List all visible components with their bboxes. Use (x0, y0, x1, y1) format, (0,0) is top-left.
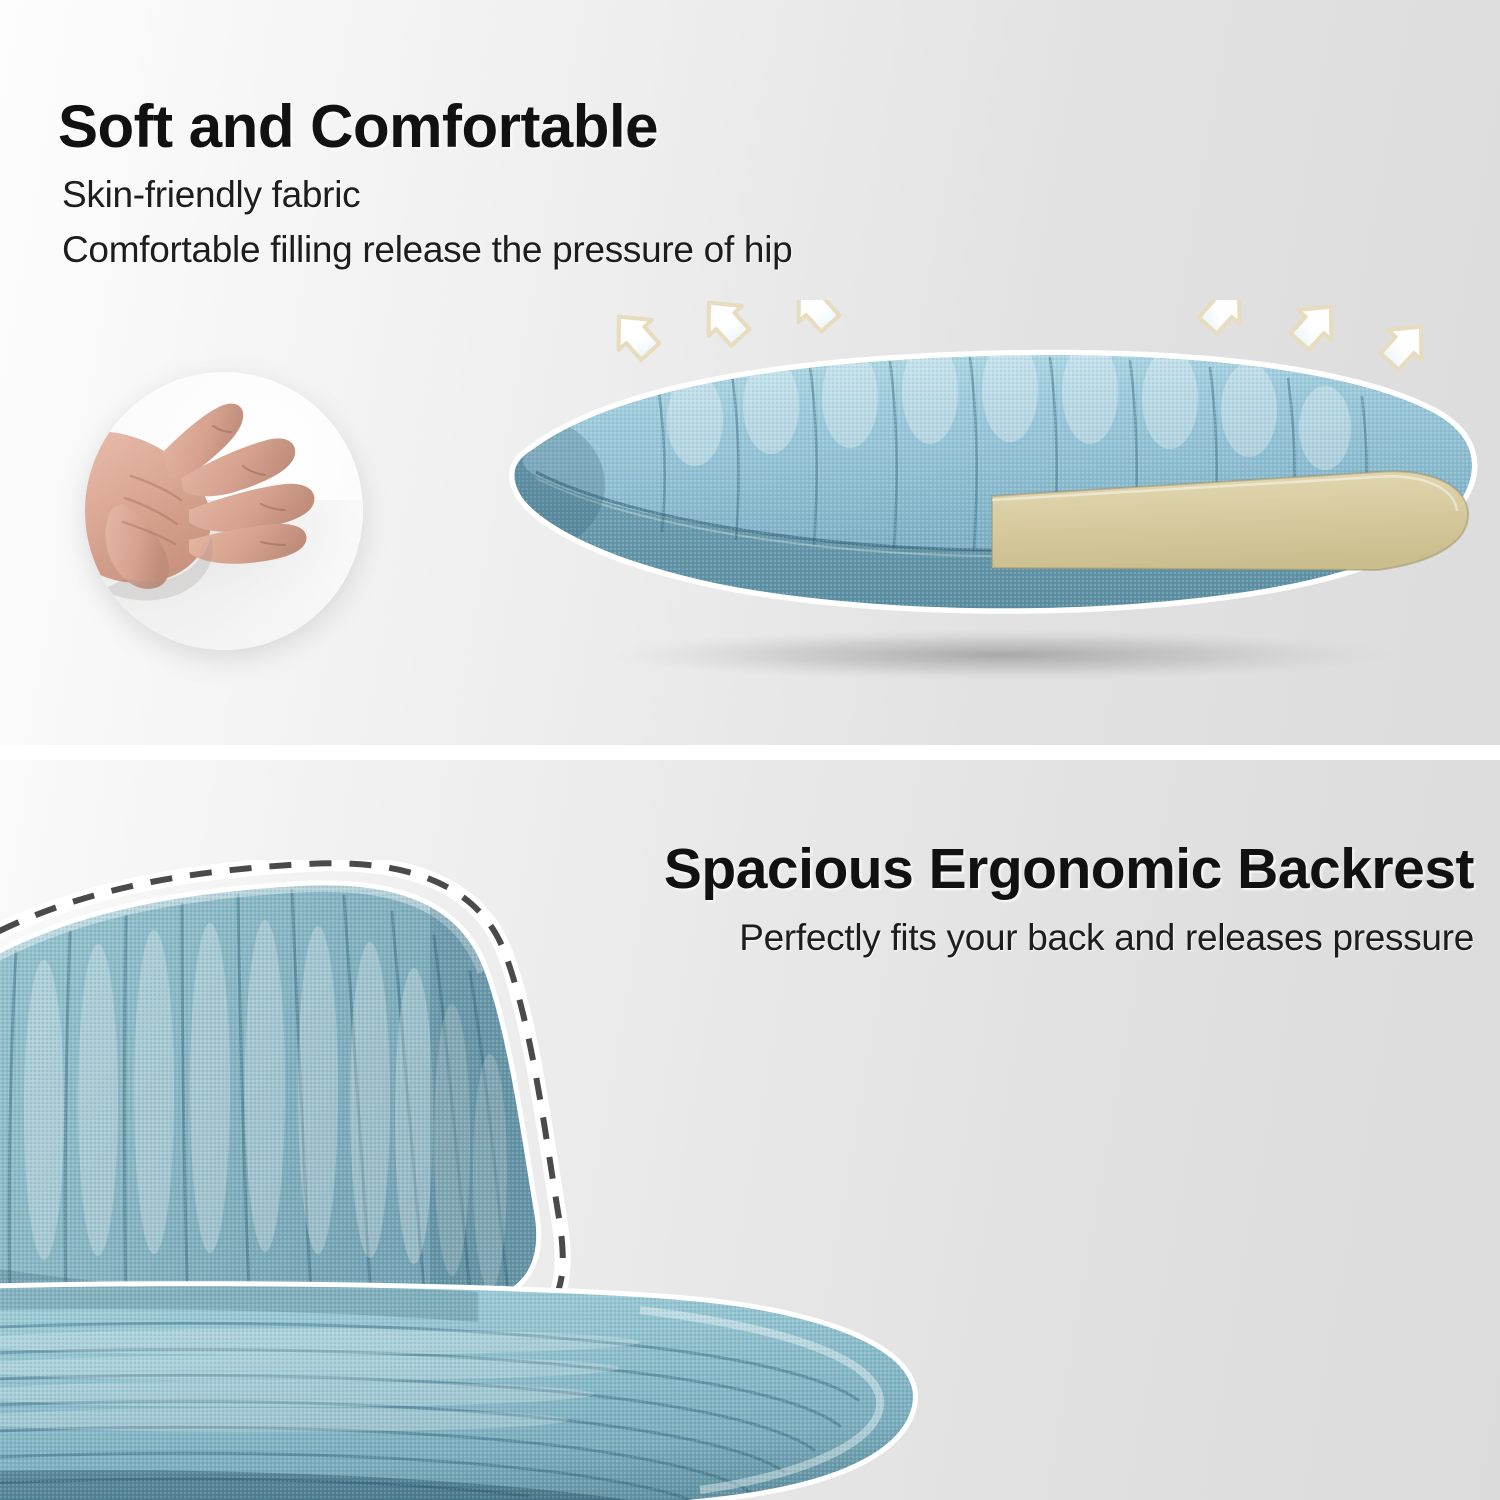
cushion-drop-shadow (605, 629, 1395, 681)
subtitle-comfortable-filling: Comfortable filling release the pressure… (62, 229, 792, 271)
pressure-release-arrows-left (602, 300, 847, 367)
product-feature-image: Soft and Comfortable Skin-friendly fabri… (0, 0, 1500, 1500)
hand-shape (85, 404, 314, 601)
hand-pressing-foam-photo (85, 372, 363, 650)
seat-cushion-cutaway-illustration (470, 300, 1490, 700)
panel-divider (0, 745, 1500, 760)
panel-soft-and-comfortable: Soft and Comfortable Skin-friendly fabri… (0, 0, 1500, 745)
chair-seat (0, 1260, 1020, 1500)
subtitle-perfectly-fits-your-back: Perfectly fits your back and releases pr… (739, 917, 1474, 959)
page-title-spacious-ergonomic-backrest: Spacious Ergonomic Backrest (664, 836, 1474, 902)
page-title-soft-and-comfortable: Soft and Comfortable (58, 92, 658, 161)
subtitle-skin-friendly-fabric: Skin-friendly fabric (62, 174, 360, 216)
